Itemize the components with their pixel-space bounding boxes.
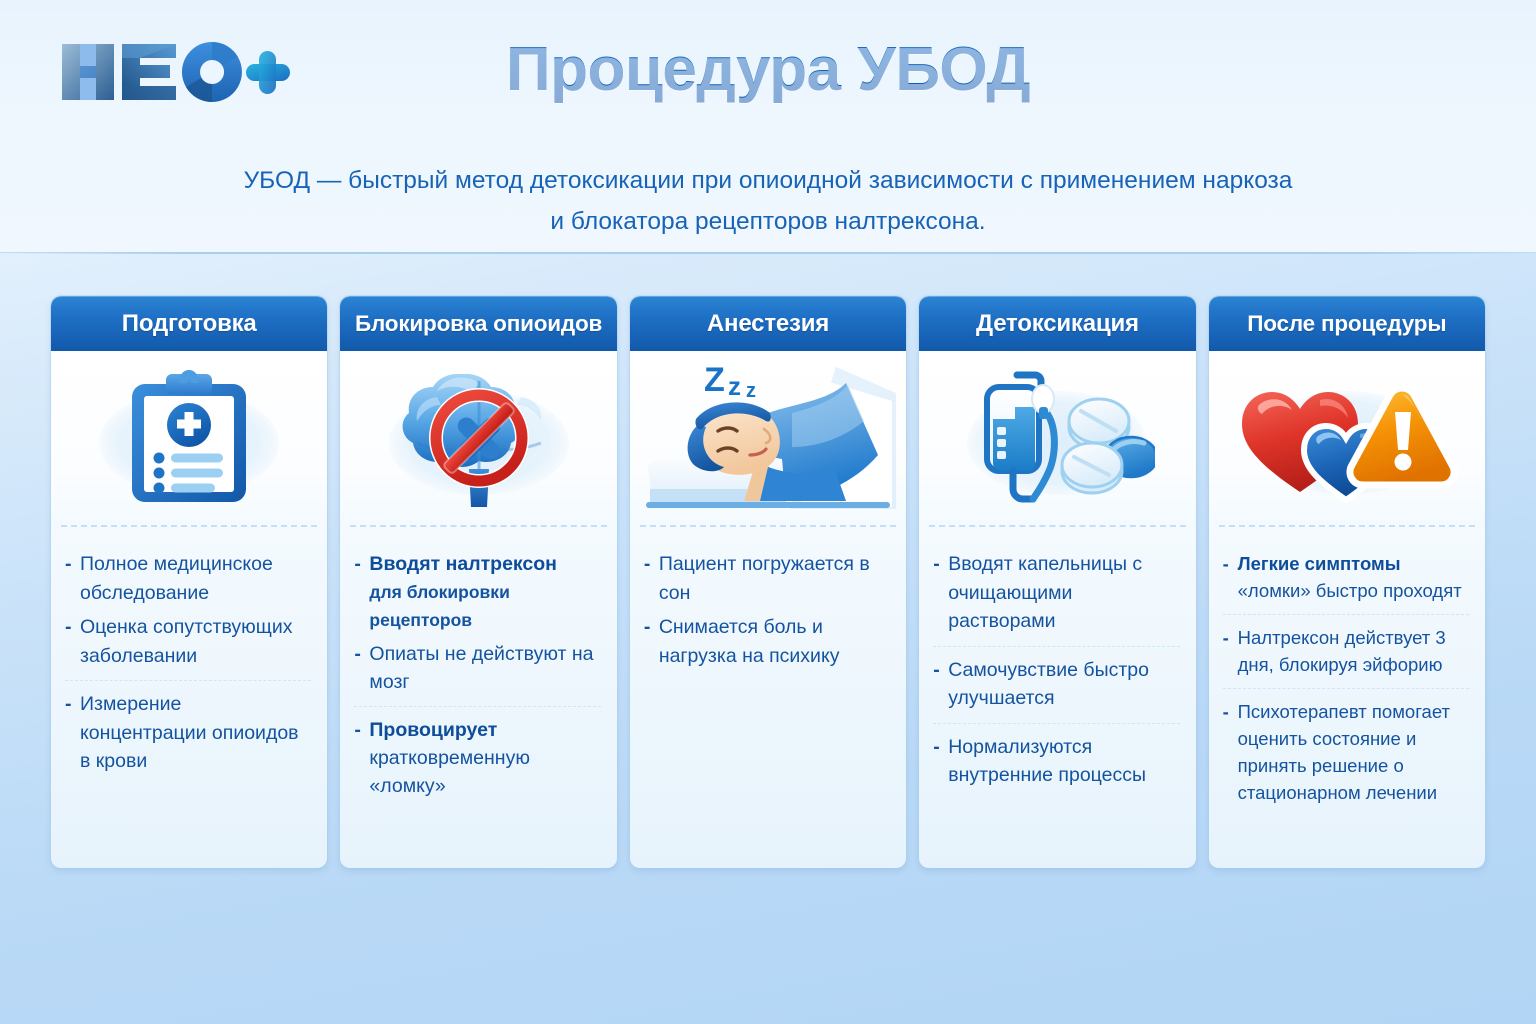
list-item: - Психотерапевт помогает оценить состоян… xyxy=(1223,695,1469,809)
bullet-dash: - xyxy=(644,550,659,579)
bullet-group: - Полное медицинское обследование - Оцен… xyxy=(65,541,311,680)
zzz-label: Z xyxy=(704,361,725,399)
page-subtitle: УБОД — быстрый метод детоксикации при оп… xyxy=(138,160,1398,242)
card-icon-after-procedure xyxy=(1209,351,1485,525)
list-item: - Вводят налтрексон для блокировки рецеп… xyxy=(354,547,600,637)
list-item: - Оценка сопутствующих заболевании xyxy=(65,610,311,673)
subtitle-line-1: УБОД — быстрый метод детоксикации при оп… xyxy=(138,160,1398,201)
bullet-dash: - xyxy=(354,640,369,669)
list-item-text: Вводят капельницы с очищающими растворам… xyxy=(948,550,1179,636)
subtitle-line-2: и блокатора рецепторов налтрексона. xyxy=(138,201,1398,242)
list-item-text: Вводят налтрексон для блокировки рецепто… xyxy=(369,550,600,634)
list-item-text: Измерение концентрации опиоидов в крови xyxy=(80,690,311,776)
list-item-subtext: «ломки» быстро проходят xyxy=(1238,577,1469,604)
list-item-text: Налтрексон действует 3 дня, блокируя эйф… xyxy=(1238,624,1469,678)
bullet-group: - Налтрексон действует 3 дня, блокируя э… xyxy=(1223,614,1469,688)
list-item-text: Легкие симптомы «ломки» быстро проходят xyxy=(1238,550,1469,604)
bullet-group: - Психотерапевт помогает оценить состоян… xyxy=(1223,688,1469,816)
bullet-dash: - xyxy=(933,733,948,762)
bullet-group: - Пациент погружается в сон - Снимается … xyxy=(644,541,890,680)
list-item: - Налтрексон действует 3 дня, блокируя э… xyxy=(1223,621,1469,681)
list-item-strong: Легкие симптомы xyxy=(1238,553,1401,574)
list-item-text: Пациент погружается в сон xyxy=(659,550,890,607)
card-title-detoxification: Детоксикация xyxy=(919,296,1195,351)
list-item: - Снимается боль и нагрузка на психику xyxy=(644,610,890,673)
card-title-opioid-blocking: Блокировка опиоидов xyxy=(340,296,616,351)
bullet-dash: - xyxy=(644,613,659,642)
list-item-text: Самочувствие быстро улучшается xyxy=(948,656,1179,713)
list-item: - Легкие симптомы «ломки» быстро проходя… xyxy=(1223,547,1469,607)
hearts-warning-icon xyxy=(1234,372,1460,504)
card-title-preparation: Подготовка xyxy=(51,296,327,351)
sleeping-patient-icon: Z z z xyxy=(640,359,896,517)
card-icon-preparation xyxy=(51,351,327,525)
list-item: - Полное медицинское обследование xyxy=(65,547,311,610)
list-item: - Пациент погружается в сон xyxy=(644,547,890,610)
list-item-subtext: кратковременную «ломку» xyxy=(369,744,600,800)
svg-text:z: z xyxy=(728,371,741,401)
card-body-anesthesia: - Пациент погружается в сон - Снимается … xyxy=(630,527,906,868)
bullet-group: - Легкие симптомы «ломки» быстро проходя… xyxy=(1223,541,1469,614)
bullet-dash: - xyxy=(65,550,80,579)
list-item: - Вводят капельницы с очищающими раствор… xyxy=(933,547,1179,639)
card-icon-opioid-blocking xyxy=(340,351,616,525)
iv-drip-pills-icon xyxy=(959,365,1155,511)
bullet-group: - Вводят налтрексон для блокировки рецеп… xyxy=(354,541,600,706)
bullet-group: - Вводят капельницы с очищающими раствор… xyxy=(933,541,1179,646)
list-item: - Самочувствие быстро улучшается xyxy=(933,653,1179,716)
list-item-text: Опиаты не действуют на мозг xyxy=(369,640,600,696)
bullet-group: - Измерение концентрации опиоидов в кров… xyxy=(65,680,311,786)
list-item: - Нормализуются внутренние процессы xyxy=(933,730,1179,793)
list-item-subtext: для блокировки рецепторов xyxy=(369,578,600,634)
list-item-text: Снимается боль и нагрузка на психику xyxy=(659,613,890,670)
card-icon-anesthesia: Z z z xyxy=(630,351,906,525)
clipboard-medical-icon xyxy=(126,370,252,506)
bullet-dash: - xyxy=(1223,698,1238,725)
brain-blocked-icon xyxy=(391,367,567,509)
bullet-dash: - xyxy=(1223,624,1238,651)
list-item-strong: Вводят налтрексон xyxy=(369,553,557,575)
page-title: Процедура УБОД xyxy=(0,34,1536,105)
list-item: - Опиаты не действуют на мозг xyxy=(354,637,600,699)
list-item-text: Нормализуются внутренние процессы xyxy=(948,733,1179,790)
list-item-strong: Провоцирует xyxy=(369,719,497,741)
step-card-detoxification[interactable]: Детоксикация xyxy=(919,296,1195,868)
card-title-anesthesia: Анестезия xyxy=(630,296,906,351)
step-card-anesthesia[interactable]: Анестезия xyxy=(630,296,906,868)
list-item-text: Психотерапевт помогает оценить состояние… xyxy=(1238,698,1469,806)
bullet-dash: - xyxy=(354,550,369,579)
list-item-text: Полное медицинское обследование xyxy=(80,550,311,607)
card-body-after-procedure: - Легкие симптомы «ломки» быстро проходя… xyxy=(1209,527,1485,868)
card-body-detoxification: - Вводят капельницы с очищающими раствор… xyxy=(919,527,1195,868)
bullet-dash: - xyxy=(933,550,948,579)
card-title-after-procedure: После процедуры xyxy=(1209,296,1485,351)
step-card-opioid-blocking[interactable]: Блокировка опиоидов xyxy=(340,296,616,868)
step-card-after-procedure[interactable]: После процедуры xyxy=(1209,296,1485,868)
list-item-text: Оценка сопутствующих заболевании xyxy=(80,613,311,670)
bullet-group: - Провоцирует кратковременную «ломку» xyxy=(354,706,600,810)
list-item: - Измерение концентрации опиоидов в кров… xyxy=(65,687,311,779)
bullet-dash: - xyxy=(65,690,80,719)
bullet-dash: - xyxy=(65,613,80,642)
bullet-dash: - xyxy=(1223,550,1238,577)
card-icon-detoxification xyxy=(919,351,1195,525)
card-body-preparation: - Полное медицинское обследование - Оцен… xyxy=(51,527,327,868)
bullet-dash: - xyxy=(354,716,369,745)
list-item-text: Провоцирует кратковременную «ломку» xyxy=(369,716,600,800)
bullet-dash: - xyxy=(933,656,948,685)
steps-card-row: Подготовка xyxy=(51,296,1485,868)
infographic-page: Процедура УБОД УБОД — быстрый метод дето… xyxy=(0,0,1536,1024)
list-item: - Провоцирует кратковременную «ломку» xyxy=(354,713,600,803)
step-card-preparation[interactable]: Подготовка xyxy=(51,296,327,868)
card-body-opioid-blocking: - Вводят налтрексон для блокировки рецеп… xyxy=(340,527,616,868)
svg-text:z: z xyxy=(746,380,756,402)
bullet-group: - Нормализуются внутренние процессы xyxy=(933,723,1179,800)
bullet-group: - Самочувствие быстро улучшается xyxy=(933,646,1179,723)
